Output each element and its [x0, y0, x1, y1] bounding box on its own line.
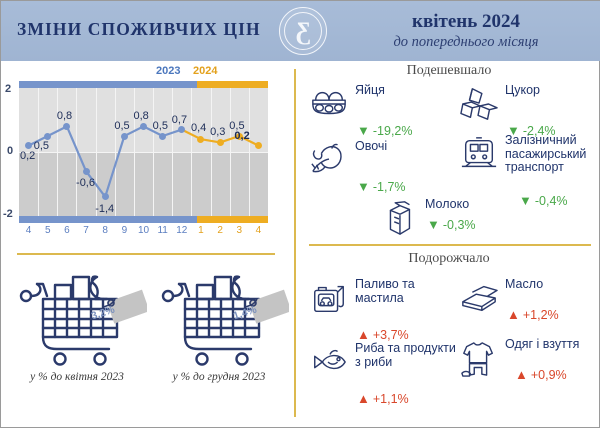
up-triangle-icon: ▲	[515, 367, 528, 382]
price-change-percent: -19,2%	[373, 124, 413, 138]
down-triangle-icon: ▼	[357, 179, 370, 194]
price-change-item-name: Яйця	[355, 84, 445, 98]
milk-carton-icon	[379, 199, 419, 237]
price-change-item-value: ▼-0,4%	[519, 193, 568, 208]
chart-data-point	[140, 123, 147, 130]
chart-data-point	[102, 193, 109, 200]
y-axis-label-top: 2	[5, 83, 11, 95]
chart-topbar-2023	[19, 81, 197, 88]
header-subtitle: до попереднього місяця	[341, 34, 591, 51]
chart-value-label: 0,7	[172, 114, 187, 126]
panel-dearer-title: Подорожчало	[301, 251, 597, 267]
chart-data-point	[83, 168, 90, 175]
x-axis-tick-label: 2	[210, 225, 230, 236]
egg-carton-icon	[309, 85, 351, 123]
price-change-item-value: ▲+3,7%	[357, 327, 409, 342]
panel-cheaper-title: Подешевшало	[301, 63, 597, 79]
panel-cheaper: Подешевшало Яйця▼-19,2%Цукор▼-2,4%Овочі▼…	[301, 63, 597, 241]
header-month: квітень 2024	[341, 11, 591, 33]
price-change-item-name: Одяг і взуття	[505, 338, 600, 352]
x-axis-tick-label: 6	[57, 225, 77, 236]
milk-carton-icon	[379, 199, 421, 237]
chart-value-label: 0,4	[191, 122, 206, 134]
price-change-item-value: ▼-0,3%	[427, 217, 476, 232]
fuel-canister-icon	[309, 279, 351, 317]
butter-icon	[459, 279, 499, 317]
x-axis-tick-label: 4	[19, 225, 39, 236]
down-triangle-icon: ▼	[519, 193, 532, 208]
chart-value-label: 0,5	[114, 120, 129, 132]
price-change-percent: -1,7%	[373, 180, 406, 194]
train-icon	[459, 135, 499, 173]
down-triangle-icon: ▼	[357, 123, 370, 138]
cart-caption: у % до грудня 2023	[149, 371, 289, 383]
cpi-line-chart: 2023 2024 2 0 -2 4567891011121234 0,20,5…	[1, 63, 293, 248]
chart-plot-area	[19, 88, 268, 216]
cart-caption: у % до квітня 2023	[7, 371, 147, 383]
chart-data-point	[159, 133, 166, 140]
fuel-canister-icon	[309, 279, 349, 317]
price-change-percent: +1,2%	[523, 308, 559, 322]
chart-value-label: 0,8	[134, 110, 149, 122]
up-triangle-icon: ▲	[357, 391, 370, 406]
vertical-divider	[294, 69, 296, 417]
y-axis-label-zero: 0	[7, 145, 13, 157]
chart-value-label: 0,5	[153, 120, 168, 132]
shopping-cart-icon	[149, 269, 289, 369]
x-axis-tick-label: 9	[114, 225, 134, 236]
left-gold-divider	[17, 253, 275, 255]
header-banner: ЗМІНИ СПОЖИВЧИХ ЦІН Ƹ квітень 2024 до по…	[1, 1, 600, 61]
price-change-percent: +1,1%	[373, 392, 409, 406]
price-change-item-value: ▼-19,2%	[357, 123, 412, 138]
infographic-page: ЗМІНИ СПОЖИВЧИХ ЦІН Ƹ квітень 2024 до по…	[0, 0, 600, 428]
chart-year-label-2024: 2024	[193, 65, 217, 77]
derzhstat-logo: Ƹ	[279, 7, 327, 55]
price-change-item-name: Цукор	[505, 84, 595, 98]
egg-carton-icon	[309, 85, 349, 123]
panel-dearer: Подорожчало Паливо та мастила▲+3,7%Масло…	[301, 251, 597, 417]
x-axis-tick-label: 12	[172, 225, 192, 236]
price-change-percent: -0,4%	[535, 194, 568, 208]
x-axis-tick-label: 4	[248, 225, 268, 236]
train-icon	[459, 135, 501, 173]
cart-block-vs-april: 3,2% у % до квітня 2023	[7, 269, 147, 369]
fish-icon	[309, 343, 351, 381]
chart-value-label: -1,4	[95, 203, 114, 215]
chart-botbar-2023	[19, 216, 197, 223]
clothing-icon	[459, 339, 499, 377]
up-triangle-icon: ▲	[357, 327, 370, 342]
down-triangle-icon: ▼	[427, 217, 440, 232]
x-axis-tick-label: 10	[134, 225, 154, 236]
chart-data-point	[44, 133, 51, 140]
x-axis-tick-label: 8	[95, 225, 115, 236]
chart-value-label: 0,3	[210, 126, 225, 138]
logo-sigma-glyph: Ƹ	[280, 8, 326, 54]
price-change-percent: +3,7%	[373, 328, 409, 342]
price-change-item-value: ▲+0,9%	[515, 367, 567, 382]
fish-icon	[309, 343, 349, 381]
clothing-icon	[459, 339, 501, 377]
price-change-item-name: Овочі	[355, 140, 445, 154]
page-title: ЗМІНИ СПОЖИВЧИХ ЦІН	[17, 19, 261, 40]
chart-data-point	[255, 142, 262, 149]
chart-value-label: -0,6	[76, 177, 95, 189]
right-gold-divider	[309, 244, 591, 246]
shopping-cart-icon	[7, 269, 147, 369]
cart-block-vs-december: 1,4% у % до грудня 2023	[149, 269, 289, 369]
chart-value-label: 0,2	[234, 130, 249, 142]
chart-topbar-2024	[197, 81, 268, 88]
vegetables-icon	[309, 141, 351, 179]
x-axis-tick-label: 3	[229, 225, 249, 236]
chart-data-point	[217, 139, 224, 146]
price-change-item-name: Риба та продукти з риби	[355, 342, 460, 369]
chart-year-label-2023: 2023	[156, 65, 180, 77]
sugar-cubes-icon	[459, 85, 501, 123]
price-change-item-name: Паливо та мастила	[355, 278, 450, 305]
chart-data-point	[121, 133, 128, 140]
chart-series-svg	[19, 88, 268, 216]
price-change-item-value: ▲+1,1%	[357, 391, 409, 406]
x-axis-tick-label: 5	[38, 225, 58, 236]
price-change-item-value: ▼-1,7%	[357, 179, 406, 194]
price-change-item-name: Масло	[505, 278, 600, 292]
price-change-percent: -0,3%	[443, 218, 476, 232]
price-change-item-name: Залізничний пасажирський транспорт	[505, 134, 600, 175]
up-triangle-icon: ▲	[507, 307, 520, 322]
chart-value-label: 0,8	[57, 110, 72, 122]
x-axis-tick-label: 11	[153, 225, 173, 236]
price-change-item-value: ▲+1,2%	[507, 307, 559, 322]
y-axis-label-bottom: -2	[3, 208, 13, 220]
vegetables-icon	[309, 141, 349, 179]
price-change-item-name: Молоко	[425, 198, 515, 212]
sugar-cubes-icon	[459, 85, 499, 123]
butter-icon	[459, 279, 501, 317]
chart-value-label: 0,5	[34, 140, 49, 152]
x-axis-tick-label: 1	[191, 225, 211, 236]
chart-botbar-2024	[197, 216, 268, 223]
price-change-percent: +0,9%	[531, 368, 567, 382]
x-axis-tick-label: 7	[76, 225, 96, 236]
